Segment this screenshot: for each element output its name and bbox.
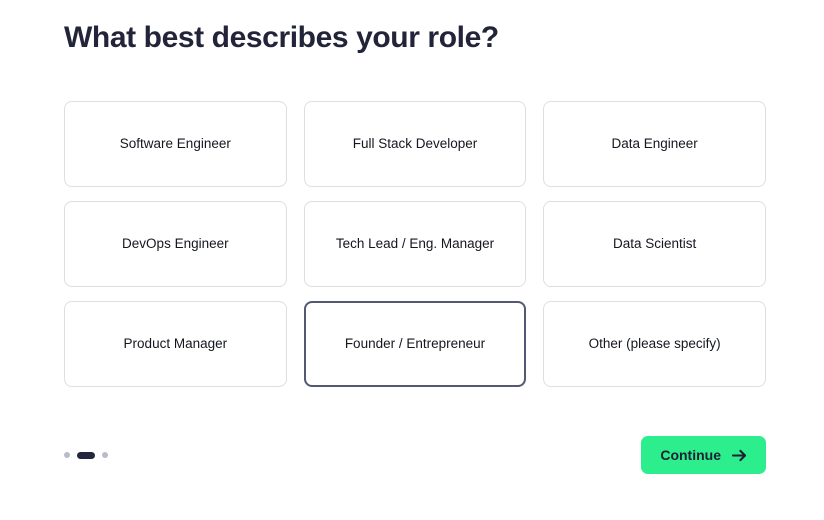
pagination-dot[interactable] (102, 452, 108, 458)
role-option-label: Founder / Entrepreneur (345, 335, 485, 353)
role-option-card[interactable]: Tech Lead / Eng. Manager (304, 201, 527, 287)
role-option-label: Other (please specify) (589, 335, 721, 353)
pagination-dots (64, 446, 108, 464)
onboarding-role-screen: What best describes your role? Software … (0, 0, 824, 520)
footer-bar: Continue (64, 436, 766, 474)
arrow-right-icon (732, 449, 747, 462)
role-option-label: Data Scientist (613, 235, 696, 253)
role-option-card[interactable]: Other (please specify) (543, 301, 766, 387)
continue-button-label: Continue (660, 446, 721, 464)
role-options-grid: Software EngineerFull Stack DeveloperDat… (64, 101, 766, 387)
role-option-card[interactable]: Data Scientist (543, 201, 766, 287)
role-option-card[interactable]: Product Manager (64, 301, 287, 387)
page-title: What best describes your role? (64, 18, 499, 58)
continue-button[interactable]: Continue (641, 436, 766, 474)
role-option-label: Full Stack Developer (353, 135, 478, 153)
role-option-card[interactable]: Data Engineer (543, 101, 766, 187)
role-option-label: Product Manager (124, 335, 228, 353)
role-option-label: Software Engineer (120, 135, 231, 153)
pagination-dot[interactable] (64, 452, 70, 458)
role-option-label: Tech Lead / Eng. Manager (336, 235, 494, 253)
role-option-label: DevOps Engineer (122, 235, 229, 253)
role-option-card[interactable]: Full Stack Developer (304, 101, 527, 187)
pagination-dot-active[interactable] (77, 452, 95, 459)
role-option-card[interactable]: DevOps Engineer (64, 201, 287, 287)
role-option-card[interactable]: Founder / Entrepreneur (304, 301, 527, 387)
role-option-label: Data Engineer (612, 135, 698, 153)
role-option-card[interactable]: Software Engineer (64, 101, 287, 187)
